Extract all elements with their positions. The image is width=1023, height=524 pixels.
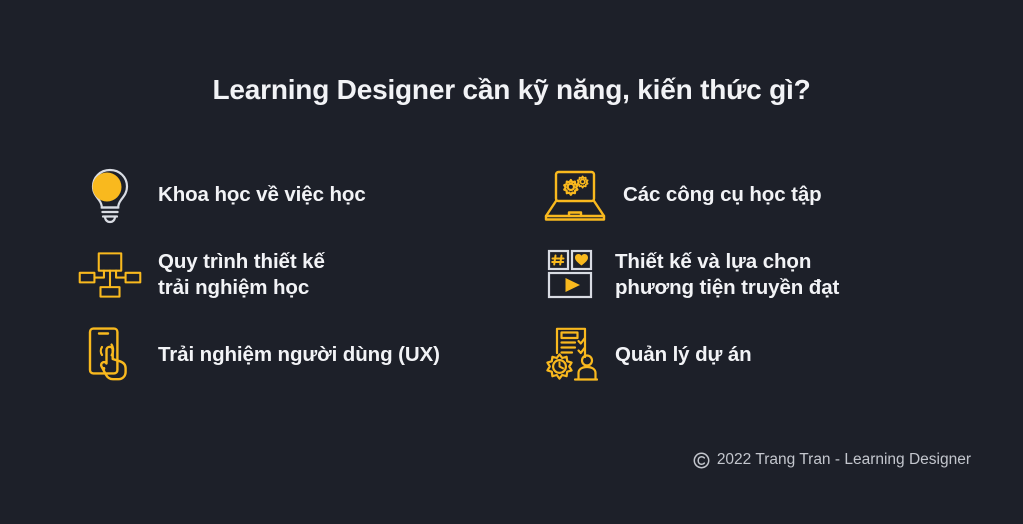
skill-item-quy-trinh-thiet-ke[interactable]: Quy trình thiết kế trải nghiệm học [78,235,543,315]
skill-item-khoa-hoc-ve-viec-hoc[interactable]: Khoa học về việc học [78,155,543,235]
footer-copyright: 2022 Trang Tran - Learning Designer [693,451,971,469]
skill-label: Quy trình thiết kế trải nghiệm học [158,249,325,301]
skill-item-cac-cong-cu-hoc-tap[interactable]: Các công cụ học tập [543,155,978,235]
skill-label-line1: Quy trình thiết kế [158,250,325,273]
skill-label-line1: Thiết kế và lựa chọn [615,250,811,273]
page-title: Learning Designer cần kỹ năng, kiến thức… [0,74,1023,106]
skill-item-thiet-ke-va-lua-chon[interactable]: Thiết kế và lựa chọn phương tiện truyền … [543,235,978,315]
laptop-gears-icon [543,163,607,227]
skills-grid: Khoa học về việc học [78,155,978,395]
skill-item-quan-ly-du-an[interactable]: Quản lý dự án [543,315,978,395]
skill-label: Quản lý dự án [615,342,752,368]
skill-item-trai-nghiem-nguoi-dung[interactable]: Trải nghiệm người dùng (UX) [78,315,543,395]
skill-label: Trải nghiệm người dùng (UX) [158,342,440,368]
lightbulb-icon [78,163,142,227]
skill-label: Khoa học về việc học [158,182,366,208]
copyright-icon [693,452,710,469]
skill-label-line2: phương tiện truyền đạt [615,276,839,299]
skill-label: Thiết kế và lựa chọn phương tiện truyền … [615,249,839,301]
slide-canvas: Learning Designer cần kỹ năng, kiến thức… [0,0,1023,524]
media-grid-icon [543,247,599,303]
flowchart-icon [78,243,142,307]
footer-text: 2022 Trang Tran - Learning Designer [717,451,971,469]
skill-label-line2: trải nghiệm học [158,276,309,299]
skill-label: Các công cụ học tập [623,182,822,208]
project-management-icon [543,327,599,383]
mobile-tap-icon [78,323,142,387]
